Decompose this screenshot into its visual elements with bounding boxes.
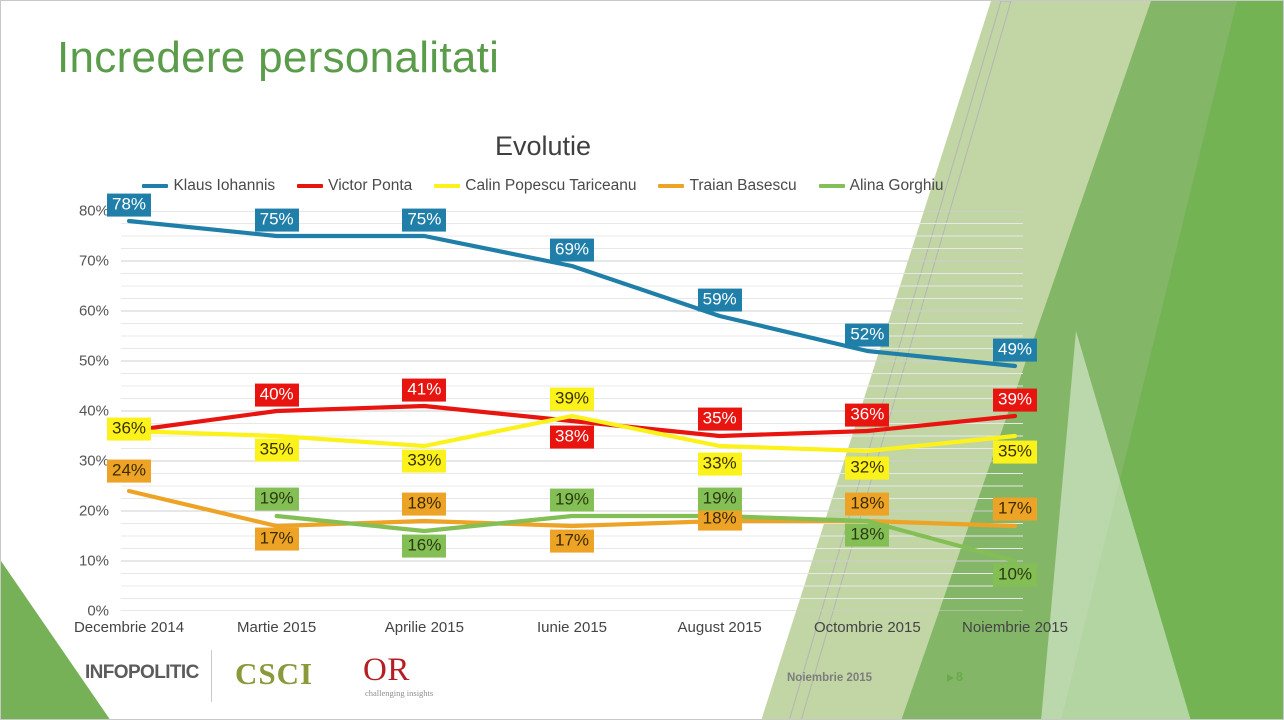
footer-date: Noiembrie 2015	[787, 672, 872, 684]
data-label: 41%	[402, 379, 446, 402]
logo-or-tagline: challenging insights	[365, 688, 433, 698]
legend-swatch-icon	[142, 184, 168, 188]
y-axis-labels: 0%10%20%30%40%50%60%70%80%	[63, 211, 115, 611]
data-label: 49%	[993, 339, 1037, 362]
logo-or: OR	[363, 652, 410, 689]
data-label: 35%	[255, 439, 299, 462]
data-label: 38%	[550, 426, 594, 449]
chart: Evolutie Klaus IohannisVictor PontaCalin…	[63, 119, 1023, 649]
logo-infopolitic: INFOPOLITIC	[85, 662, 199, 684]
y-axis-tick: 70%	[79, 253, 109, 270]
data-label: 17%	[255, 528, 299, 551]
data-label: 33%	[402, 450, 446, 473]
footer-divider	[211, 650, 212, 702]
data-label: 17%	[550, 530, 594, 553]
legend-label: Alina Gorghiu	[850, 177, 944, 195]
data-label: 19%	[255, 488, 299, 511]
data-label: 24%	[107, 460, 151, 483]
y-axis-tick: 30%	[79, 453, 109, 470]
x-axis-tick: Iunie 2015	[537, 619, 607, 636]
data-label: 18%	[698, 508, 742, 531]
slide: Incredere personalitati Evolutie Klaus I…	[0, 0, 1284, 720]
y-axis-tick: 0%	[87, 603, 109, 620]
legend-item-2[interactable]: Calin Popescu Tariceanu	[434, 177, 636, 195]
data-label: 19%	[550, 489, 594, 512]
footer-page-number: 8	[947, 670, 963, 684]
play-triangle-icon	[947, 674, 954, 682]
data-label: 18%	[845, 524, 889, 547]
x-axis-tick: Aprilie 2015	[385, 619, 464, 636]
data-label: 69%	[550, 239, 594, 262]
data-label: 19%	[698, 488, 742, 511]
data-label: 35%	[993, 441, 1037, 464]
chart-legend: Klaus IohannisVictor PontaCalin Popescu …	[63, 177, 1023, 195]
x-axis-tick: Noiembrie 2015	[962, 619, 1068, 636]
plot-wrapper: 0%10%20%30%40%50%60%70%80% 78%75%75%69%5…	[63, 211, 1023, 649]
x-axis-labels: Decembrie 2014Martie 2015Aprilie 2015Iun…	[121, 615, 1023, 645]
data-label: 18%	[845, 493, 889, 516]
y-axis-tick: 60%	[79, 303, 109, 320]
chart-title: Evolutie	[63, 131, 1023, 162]
data-label: 40%	[255, 384, 299, 407]
data-label: 78%	[107, 194, 151, 217]
legend-label: Klaus Iohannis	[173, 177, 275, 195]
y-axis-tick: 40%	[79, 403, 109, 420]
y-axis-tick: 50%	[79, 353, 109, 370]
data-label: 35%	[698, 408, 742, 431]
x-axis-tick: Decembrie 2014	[74, 619, 184, 636]
y-axis-tick: 10%	[79, 553, 109, 570]
page-title: Incredere personalitati	[57, 33, 499, 83]
data-label: 75%	[255, 209, 299, 232]
data-label: 10%	[993, 564, 1037, 587]
logo-csci: CSCI	[235, 656, 313, 692]
slide-footer: INFOPOLITIC CSCI OR challenging insights…	[1, 646, 1284, 720]
legend-label: Calin Popescu Tariceanu	[465, 177, 636, 195]
data-label: 59%	[698, 289, 742, 312]
legend-item-4[interactable]: Alina Gorghiu	[819, 177, 944, 195]
data-label: 36%	[107, 418, 151, 441]
data-label: 32%	[845, 457, 889, 480]
legend-label: Traian Basescu	[689, 177, 796, 195]
data-label: 39%	[993, 389, 1037, 412]
page-number-value: 8	[956, 670, 963, 684]
legend-item-1[interactable]: Victor Ponta	[297, 177, 412, 195]
data-label: 17%	[993, 498, 1037, 521]
legend-item-3[interactable]: Traian Basescu	[658, 177, 796, 195]
x-axis-tick: August 2015	[678, 619, 762, 636]
plot-canvas: 78%75%75%69%59%52%49%40%41%38%35%36%39%3…	[121, 211, 1023, 611]
data-label: 39%	[550, 388, 594, 411]
x-axis-tick: Octombrie 2015	[814, 619, 921, 636]
legend-swatch-icon	[297, 184, 323, 188]
y-axis-tick: 20%	[79, 503, 109, 520]
legend-item-0[interactable]: Klaus Iohannis	[142, 177, 275, 195]
legend-label: Victor Ponta	[328, 177, 412, 195]
legend-swatch-icon	[658, 184, 684, 188]
data-label: 75%	[402, 209, 446, 232]
x-axis-tick: Martie 2015	[237, 619, 316, 636]
data-label: 33%	[698, 453, 742, 476]
data-label: 36%	[845, 404, 889, 427]
y-axis-tick: 80%	[79, 203, 109, 220]
data-label: 52%	[845, 324, 889, 347]
legend-swatch-icon	[819, 184, 845, 188]
data-label: 16%	[402, 535, 446, 558]
data-label: 18%	[402, 493, 446, 516]
legend-swatch-icon	[434, 184, 460, 188]
